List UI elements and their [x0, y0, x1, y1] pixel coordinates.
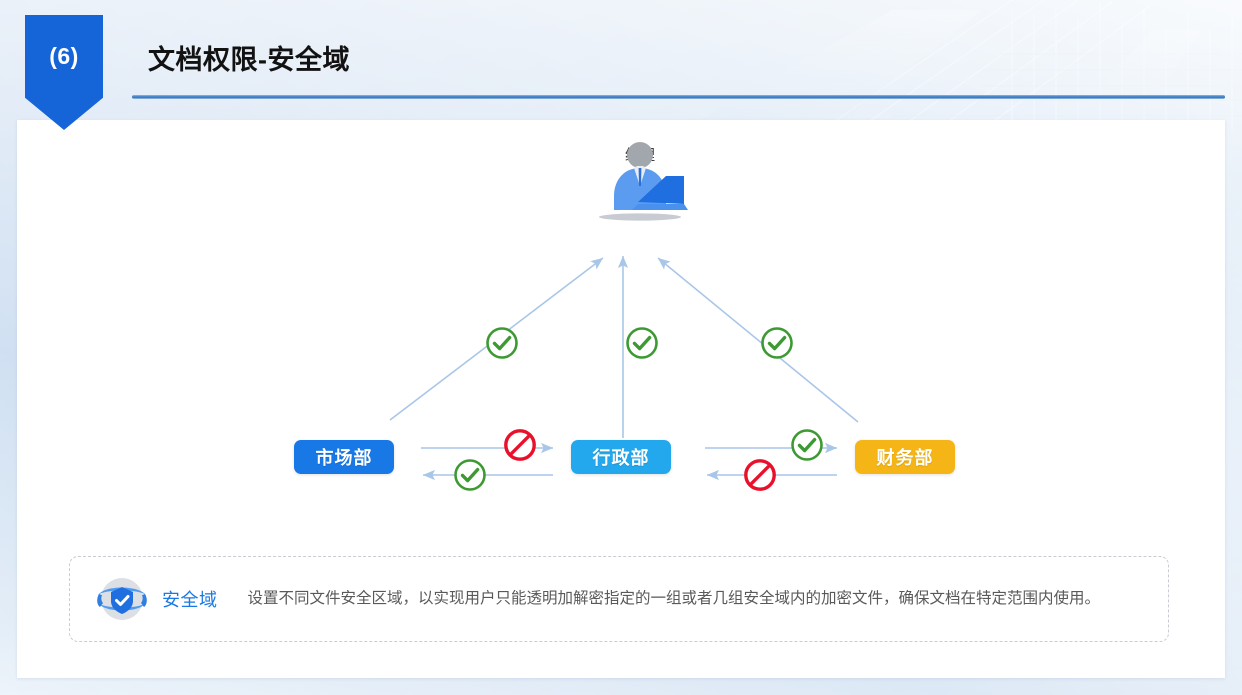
prohibition-icon-finance-to-admin	[741, 456, 779, 494]
security-domain-shield-icon	[93, 575, 151, 623]
security-domain-description: 设置不同文件安全区域，以实现用户只能透明加解密指定的一组或者几组安全域内的加密文…	[248, 587, 1101, 610]
department-label-market: 市场部	[316, 444, 373, 470]
department-box-finance[interactable]: 财务部	[855, 440, 955, 474]
check-circle-icon-market-to-manager	[483, 324, 521, 362]
check-circle-icon-admin-to-finance	[788, 426, 826, 464]
check-circle-icon-admin-to-manager	[623, 324, 661, 362]
content-card: 经理 市场部 行政部 财务部	[17, 120, 1225, 678]
department-label-finance: 财务部	[877, 444, 934, 470]
manager-laptop-icon	[588, 138, 692, 224]
department-label-admin: 行政部	[593, 444, 650, 470]
title-divider	[132, 95, 1225, 99]
check-circle-icon-finance-to-manager	[758, 324, 796, 362]
section-number-pennant: (6)	[25, 15, 103, 130]
check-circle-icon-admin-to-market	[451, 456, 489, 494]
security-domain-title: 安全域	[162, 586, 218, 612]
header-background-artwork	[682, 0, 1242, 130]
security-domain-note: 安全域 设置不同文件安全区域，以实现用户只能透明加解密指定的一组或者几组安全域内…	[69, 556, 1169, 642]
slide-root: (6) 文档权限-安全域	[0, 0, 1242, 695]
section-number-label: (6)	[49, 45, 79, 130]
department-box-market[interactable]: 市场部	[294, 440, 394, 474]
manager-node: 经理	[588, 138, 692, 165]
prohibition-icon-market-to-admin	[501, 426, 539, 464]
department-box-admin[interactable]: 行政部	[571, 440, 671, 474]
page-title: 文档权限-安全域	[148, 38, 350, 77]
